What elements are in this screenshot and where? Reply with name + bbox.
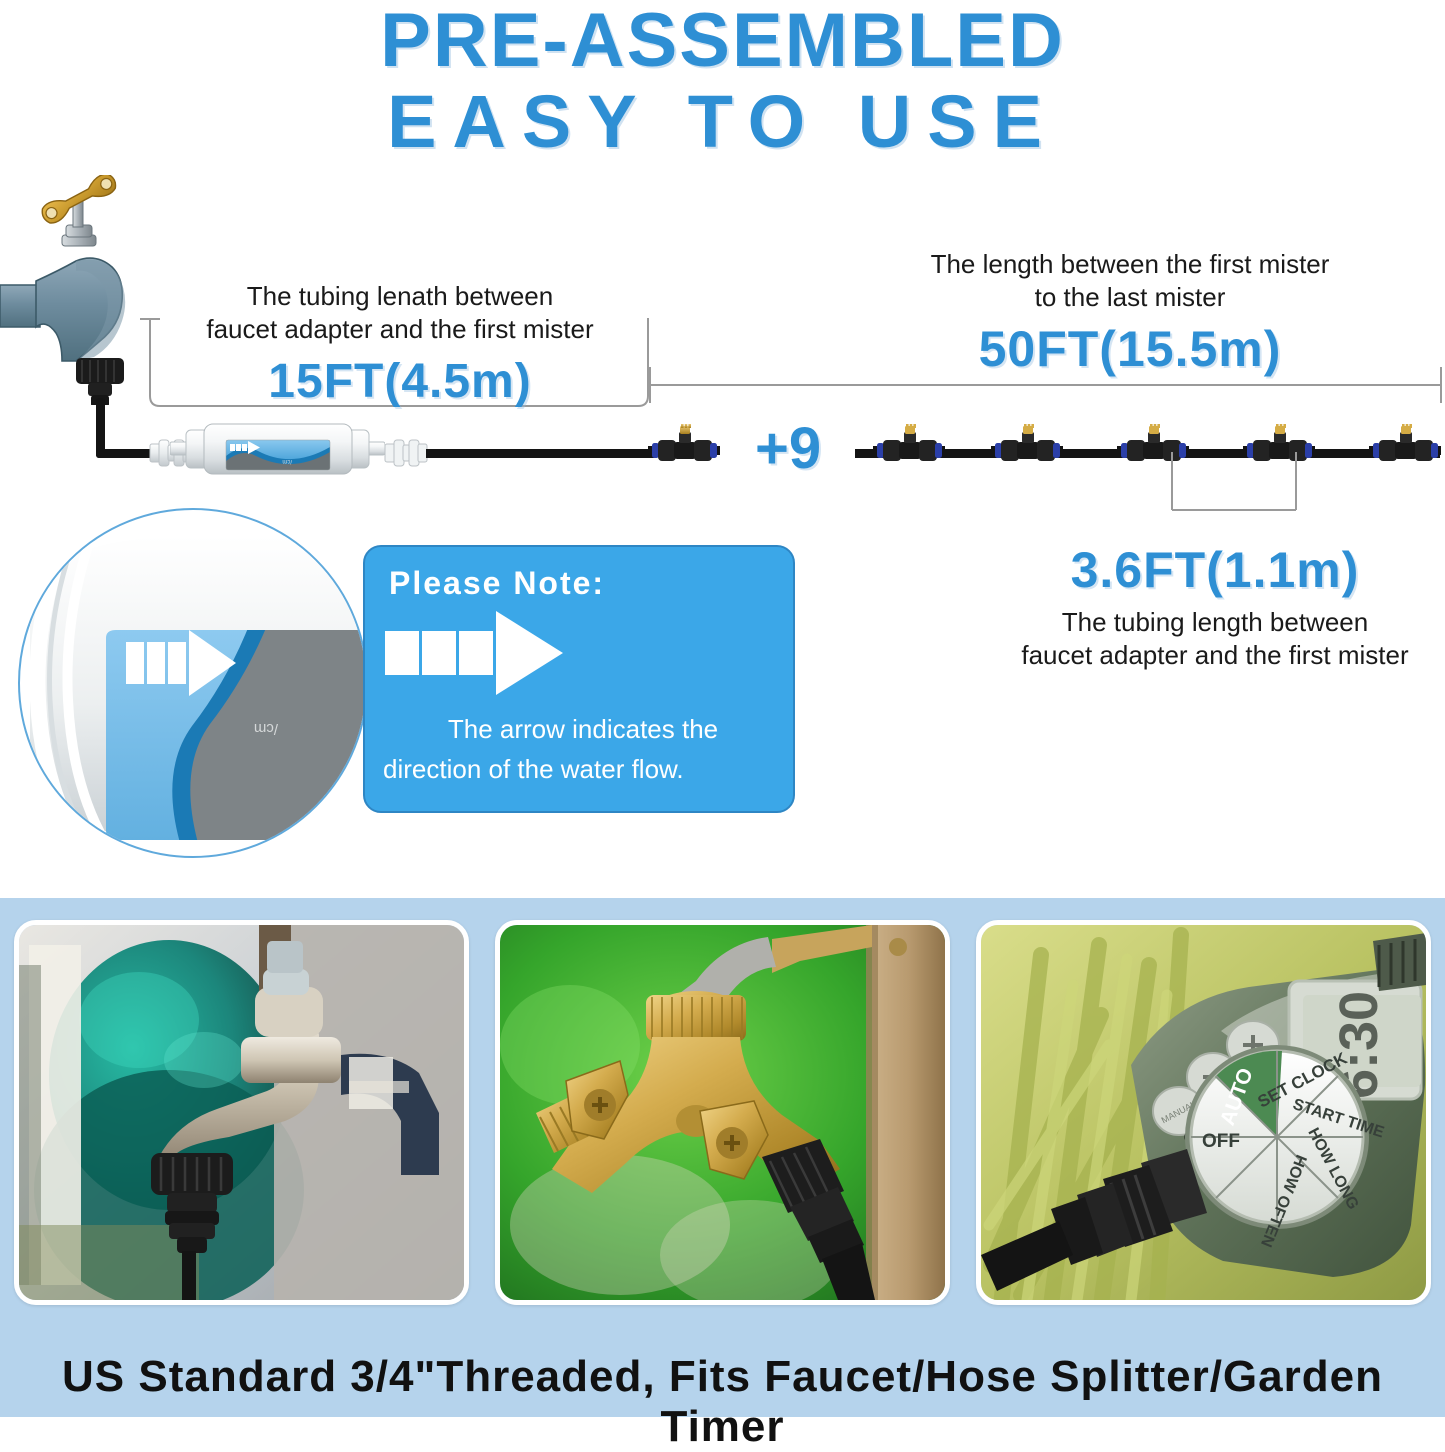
note-body-line2: direction of the water flow.: [383, 749, 783, 789]
filter-label-text: /cm: [254, 720, 278, 737]
callout-right-line2: to the last mister: [860, 281, 1400, 314]
timer-dial-off: OFF: [1202, 1131, 1240, 1152]
photo-brass-hose-splitter-with-adapter: [495, 920, 950, 1305]
callout-right: The length between the first mister to t…: [860, 248, 1400, 381]
callout-spacing-line2: faucet adapter and the first mister: [985, 639, 1445, 672]
mister-nozzle-icon: [648, 424, 720, 485]
svg-text:/cm: /cm: [282, 458, 292, 464]
callout-spacing-line1: The tubing length between: [985, 606, 1445, 639]
tubing-segment-main: [426, 449, 656, 458]
callout-right-value: 50FT(15.5m): [860, 317, 1400, 381]
please-note-box: Please Note: The arrow indicates the dir…: [363, 545, 795, 813]
bottom-caption: US Standard 3/4"Threaded, Fits Faucet/Ho…: [0, 1352, 1445, 1452]
callout-left-line1: The tubing lenath between: [160, 280, 640, 313]
callout-left-line2: faucet adapter and the first mister: [160, 313, 640, 346]
mister-nozzle-icon: [991, 424, 1063, 485]
note-body: The arrow indicates the direction of the…: [383, 709, 783, 790]
photo-strip: 6:30 MANUAL: [0, 898, 1445, 1417]
product-diagram: /cm: [0, 0, 1445, 890]
callout-spacing: 3.6FT(1.1m) The tubing length between fa…: [985, 538, 1445, 673]
callout-left: The tubing lenath between faucet adapter…: [160, 280, 640, 412]
mister-nozzle-icon: [1369, 424, 1441, 485]
photo-garden-timer-with-adapter: 6:30 MANUAL: [976, 920, 1431, 1305]
inline-water-filter-icon: /cm: [170, 418, 385, 480]
callout-right-line1: The length between the first mister: [860, 248, 1400, 281]
filter-magnifier-detail: /cm: [18, 508, 368, 858]
photo-outdoor-faucet-with-adapter: [14, 920, 469, 1305]
right-arrow-icon: [385, 607, 625, 704]
callout-spacing-value: 3.6FT(1.1m): [985, 538, 1445, 602]
note-body-line1: The arrow indicates the: [383, 709, 783, 749]
extra-misters-label: +9: [755, 415, 821, 482]
quick-connector-icon-2: [383, 432, 429, 479]
dimension-bracket-3-6ft: [1170, 452, 1300, 514]
note-title: Please Note:: [389, 565, 605, 602]
callout-left-value: 15FT(4.5m): [160, 351, 640, 412]
mister-nozzle-icon: [873, 424, 945, 485]
